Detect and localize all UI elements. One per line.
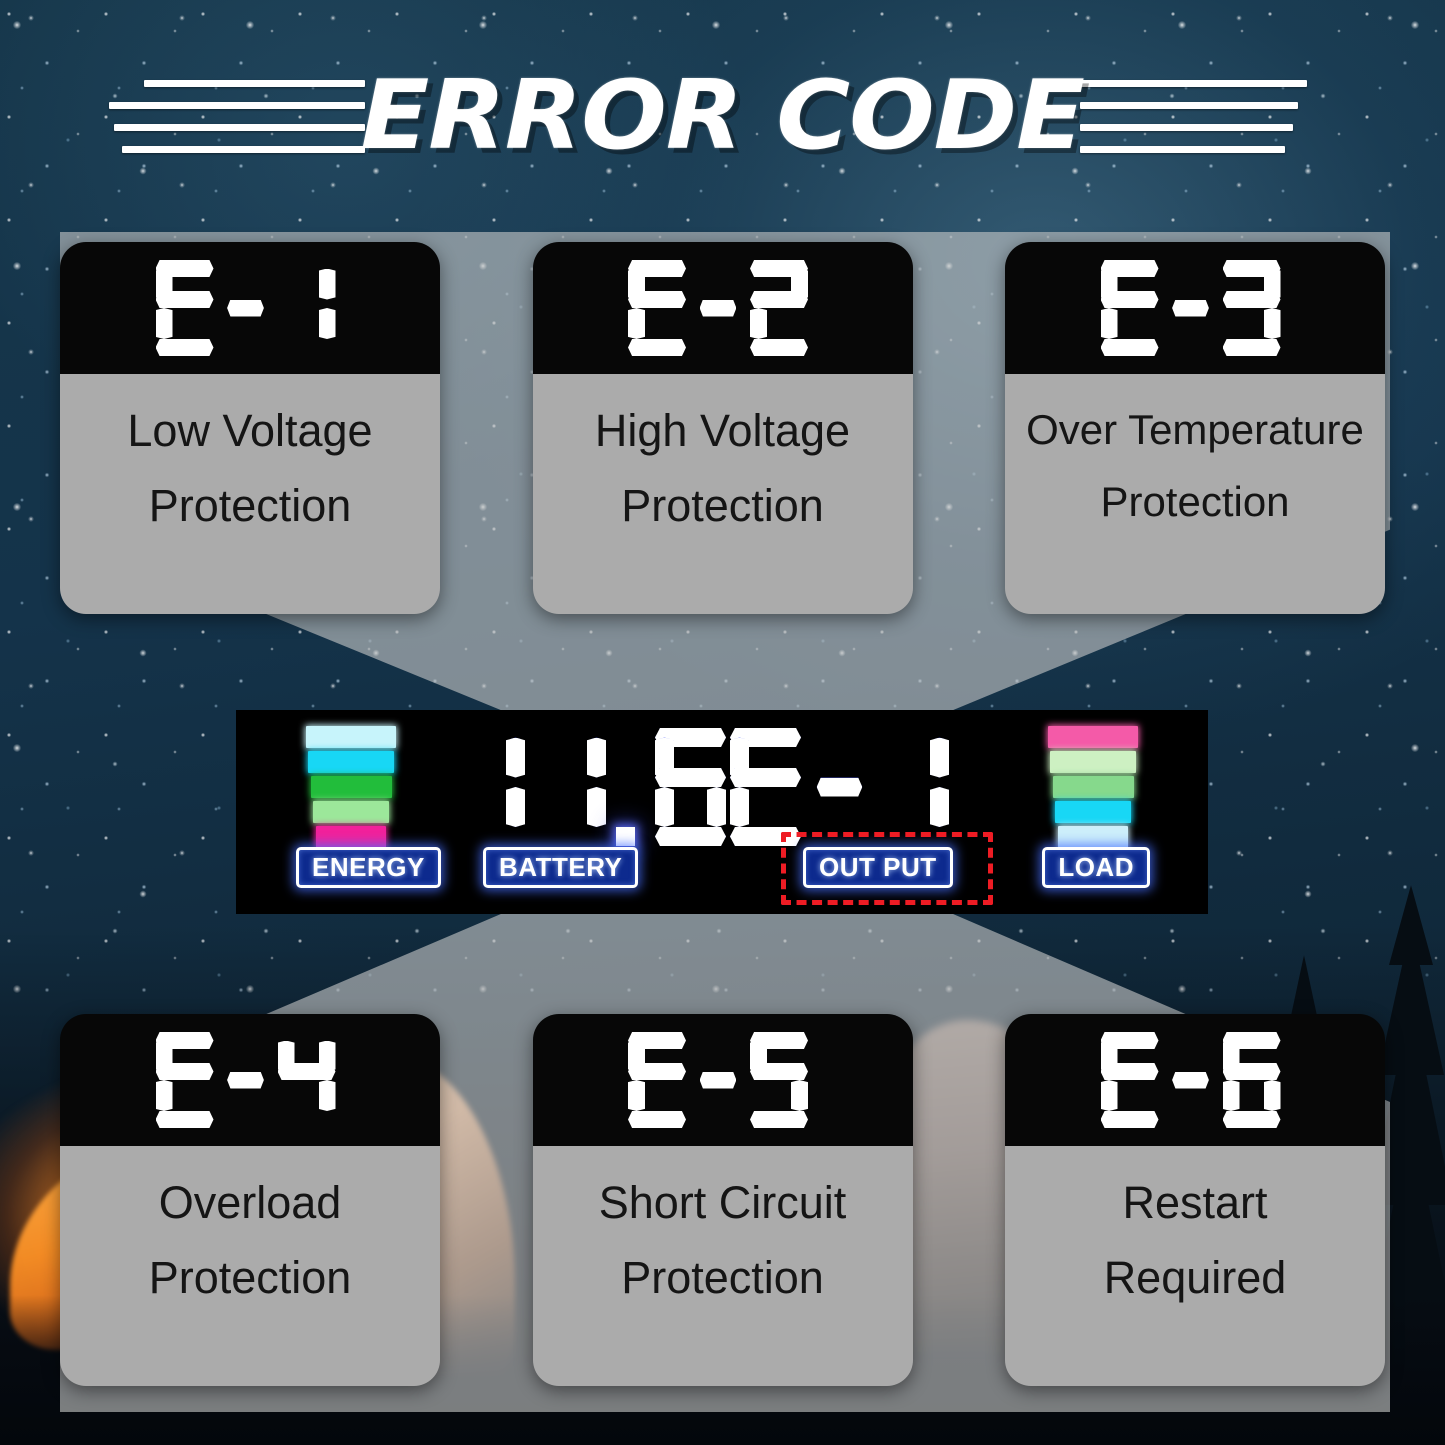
seven-segment-digit — [730, 728, 801, 846]
error-card-e5[interactable]: Short Circuit Protection — [533, 1014, 913, 1386]
error-code-display — [533, 242, 913, 374]
page-header: ERROR CODE — [0, 58, 1445, 174]
output-highlight-box — [781, 832, 993, 905]
label-battery: BATTERY — [483, 847, 638, 888]
page-title: ERROR CODE — [344, 61, 1101, 171]
seven-segment-code — [156, 260, 345, 356]
error-description-line2: Protection — [149, 483, 352, 530]
seven-segment-digit — [278, 1032, 336, 1128]
error-code-display — [60, 1014, 440, 1146]
seven-segment-digit — [454, 728, 525, 846]
seven-segment-code — [1101, 1032, 1290, 1128]
seven-segment-dash — [1168, 260, 1214, 356]
seven-segment-digit — [750, 1032, 808, 1128]
error-card-e1[interactable]: Low Voltage Protection — [60, 242, 440, 614]
error-description-line1: High Voltage — [595, 408, 850, 455]
gauge-bar — [1058, 826, 1128, 848]
error-code-display — [60, 242, 440, 374]
seven-segment-decimal-point — [616, 728, 645, 846]
output-error-readout — [730, 728, 959, 846]
error-card-e6[interactable]: Restart Required — [1005, 1014, 1385, 1386]
seven-segment-dash — [695, 260, 741, 356]
error-card-text: High Voltage Protection — [533, 374, 913, 614]
error-card-e4[interactable]: Overload Protection — [60, 1014, 440, 1386]
seven-segment-digit — [1223, 1032, 1281, 1128]
error-description-line2: Protection — [1100, 480, 1289, 524]
error-description-line2: Protection — [149, 1255, 352, 1302]
seven-segment-digit — [750, 260, 808, 356]
error-description-line1: Restart — [1122, 1180, 1267, 1227]
label-energy: ENERGY — [296, 847, 441, 888]
error-card-text: Short Circuit Protection — [533, 1146, 913, 1386]
seven-segment-digit — [535, 728, 606, 846]
gauge-bar — [316, 826, 386, 848]
error-description-line1: Low Voltage — [127, 408, 372, 455]
error-card-text: Over Temperature Protection — [1005, 374, 1385, 614]
seven-segment-dash — [1168, 1032, 1214, 1128]
decorative-rules-right — [1080, 80, 1350, 153]
rule-line — [122, 146, 365, 153]
rule-line — [109, 102, 366, 109]
seven-segment-dash — [223, 260, 269, 356]
rule-line — [144, 80, 365, 87]
error-card-text: Overload Protection — [60, 1146, 440, 1386]
seven-segment-digit — [1101, 260, 1159, 356]
load-gauge — [1048, 726, 1138, 851]
error-description-line2: Protection — [621, 1255, 824, 1302]
gauge-bar — [306, 726, 396, 748]
seven-segment-dash — [223, 1032, 269, 1128]
label-load: LOAD — [1042, 847, 1150, 888]
error-card-text: Low Voltage Protection — [60, 374, 440, 614]
seven-segment-digit — [628, 260, 686, 356]
error-description-line1: Short Circuit — [599, 1180, 847, 1227]
error-code-display — [1005, 242, 1385, 374]
error-card-row-top: Low Voltage Protection High Voltage Prot… — [60, 242, 1385, 614]
error-card-text: Restart Required — [1005, 1146, 1385, 1386]
seven-segment-code — [156, 1032, 345, 1128]
error-card-e3[interactable]: Over Temperature Protection — [1005, 242, 1385, 614]
error-description-line2: Required — [1104, 1255, 1287, 1302]
rule-line — [1080, 102, 1299, 109]
gauge-bar — [1055, 801, 1131, 823]
seven-segment-digit — [878, 728, 949, 846]
seven-segment-code — [628, 1032, 817, 1128]
rule-line — [114, 124, 365, 131]
error-description-line2: Protection — [621, 483, 824, 530]
seven-segment-digit — [655, 728, 726, 846]
error-code-display — [1005, 1014, 1385, 1146]
gauge-bar — [311, 776, 392, 798]
error-card-e2[interactable]: High Voltage Protection — [533, 242, 913, 614]
seven-segment-digit — [278, 260, 336, 356]
rule-line — [1080, 146, 1285, 153]
seven-segment-digit — [628, 1032, 686, 1128]
gauge-bar — [1048, 726, 1138, 748]
seven-segment-dash — [811, 728, 868, 846]
seven-segment-digit — [1223, 260, 1281, 356]
gauge-bar — [313, 801, 389, 823]
infographic-canvas: ERROR CODE Low Voltage Protection High V… — [0, 0, 1445, 1445]
seven-segment-digit — [1101, 1032, 1159, 1128]
seven-segment-digit — [156, 260, 214, 356]
error-card-row-bottom: Overload Protection Short Circuit Protec… — [60, 1014, 1385, 1386]
seven-segment-code — [628, 260, 817, 356]
decorative-rules-left — [95, 80, 365, 153]
seven-segment-digit — [156, 1032, 214, 1128]
rule-line — [1080, 80, 1307, 87]
gauge-bar — [308, 751, 394, 773]
gauge-bar — [1050, 751, 1136, 773]
energy-gauge — [306, 726, 396, 851]
battery-voltage-readout — [454, 728, 736, 846]
error-description-line1: Over Temperature — [1026, 408, 1364, 452]
seven-segment-dash — [695, 1032, 741, 1128]
error-description-line1: Overload — [159, 1180, 342, 1227]
error-code-display — [533, 1014, 913, 1146]
gauge-bar — [1053, 776, 1134, 798]
seven-segment-code — [1101, 260, 1290, 356]
rule-line — [1080, 124, 1293, 131]
lcd-display-panel[interactable]: ENERGY BATTERY OUT PUT LOAD — [236, 710, 1208, 914]
